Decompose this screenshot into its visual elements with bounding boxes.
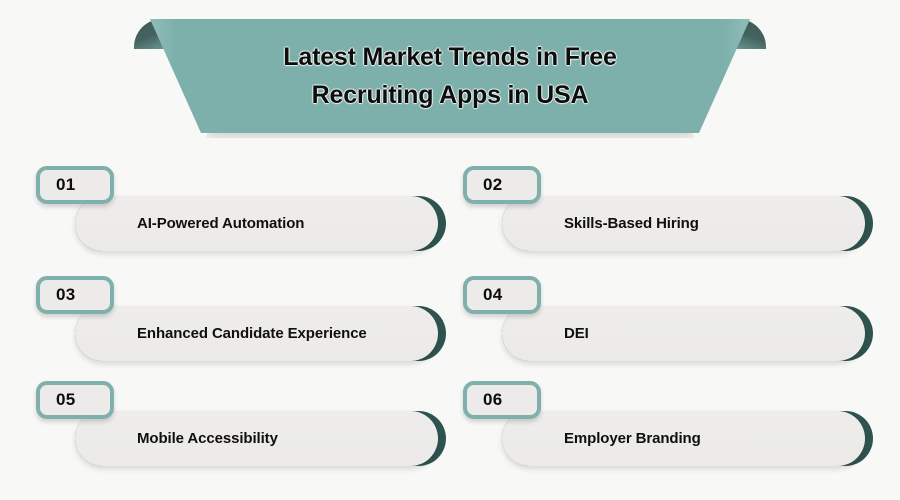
trend-list: AI-Powered Automation 01 Skills-Based Hi… [0,155,900,500]
list-item[interactable]: Skills-Based Hiring 02 [458,155,873,260]
number-badge-value: 01 [40,175,76,195]
number-badge-value: 04 [467,285,503,305]
number-badge-value: 03 [40,285,76,305]
number-badge: 06 [463,381,541,419]
page-title: Latest Market Trends in Free Recruiting … [150,19,750,133]
card[interactable]: Skills-Based Hiring [502,196,865,251]
number-badge-value: 05 [40,390,76,410]
number-badge: 01 [36,166,114,204]
page-title-line-1: Latest Market Trends in Free [283,39,616,75]
list-item-label: Skills-Based Hiring [502,214,717,233]
number-badge-value: 02 [467,175,503,195]
card[interactable]: AI-Powered Automation [75,196,438,251]
card[interactable]: DEI [502,306,865,361]
number-badge: 04 [463,276,541,314]
list-item[interactable]: DEI 04 [458,265,873,370]
page-title-line-2: Recruiting Apps in USA [312,77,589,113]
number-badge: 03 [36,276,114,314]
card[interactable]: Enhanced Candidate Experience [75,306,438,361]
list-item-label: Enhanced Candidate Experience [75,324,385,343]
list-item-label: Mobile Accessibility [75,429,296,448]
list-item-label: AI-Powered Automation [75,214,322,233]
number-badge: 02 [463,166,541,204]
list-item-label: DEI [502,324,607,343]
list-item[interactable]: Employer Branding 06 [458,370,873,475]
number-badge-value: 06 [467,390,503,410]
card[interactable]: Mobile Accessibility [75,411,438,466]
card[interactable]: Employer Branding [502,411,865,466]
list-item[interactable]: Enhanced Candidate Experience 03 [31,265,446,370]
list-item-label: Employer Branding [502,429,719,448]
list-item[interactable]: Mobile Accessibility 05 [31,370,446,475]
list-item[interactable]: AI-Powered Automation 01 [31,155,446,260]
number-badge: 05 [36,381,114,419]
banner: Latest Market Trends in Free Recruiting … [0,0,900,150]
